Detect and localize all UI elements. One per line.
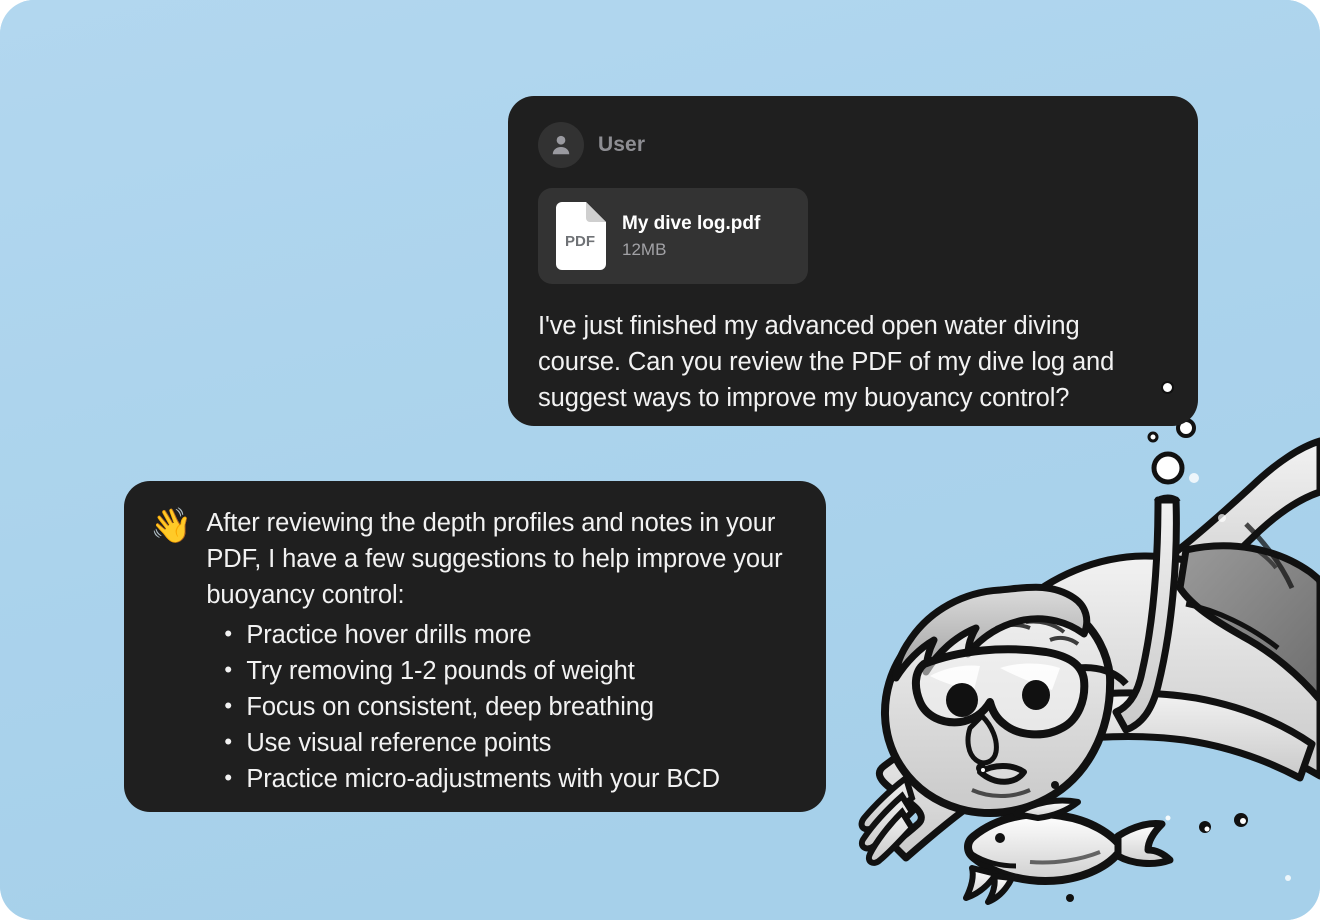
drift-bubbles <box>976 763 1291 902</box>
attachment-file-size: 12MB <box>622 240 760 260</box>
person-avatar-icon <box>538 122 584 168</box>
suggestion-list: Practice hover drills more Try removing … <box>206 617 798 797</box>
assistant-intro-text: After reviewing the depth profiles and n… <box>206 509 782 609</box>
list-item: Focus on consistent, deep breathing <box>246 689 798 725</box>
list-item: Practice micro-adjustments with your BCD <box>246 761 798 797</box>
waving-hand-emoji: 👋 <box>150 507 192 545</box>
attachment-file-name: My dive log.pdf <box>622 213 760 235</box>
user-message-bubble: User PDF My dive log.pdf 12MB I've just … <box>508 96 1198 426</box>
assistant-message-bubble: 👋 After reviewing the depth profiles and… <box>124 481 826 812</box>
list-item: Try removing 1-2 pounds of weight <box>246 653 798 689</box>
message-header: User <box>538 122 1168 168</box>
message-author-label: User <box>598 133 645 157</box>
page-root: User PDF My dive log.pdf 12MB I've just … <box>0 0 1320 920</box>
diver-figure <box>862 387 1320 902</box>
svg-text:PDF: PDF <box>565 233 595 250</box>
pdf-file-icon: PDF <box>552 202 606 270</box>
list-item: Practice hover drills more <box>246 617 798 653</box>
air-bubble-overlay-1 <box>1161 381 1174 394</box>
list-item: Use visual reference points <box>246 725 798 761</box>
user-message-text: I've just finished my advanced open wate… <box>538 308 1168 416</box>
attachment-card[interactable]: PDF My dive log.pdf 12MB <box>538 188 808 284</box>
fish-figure <box>966 801 1170 903</box>
